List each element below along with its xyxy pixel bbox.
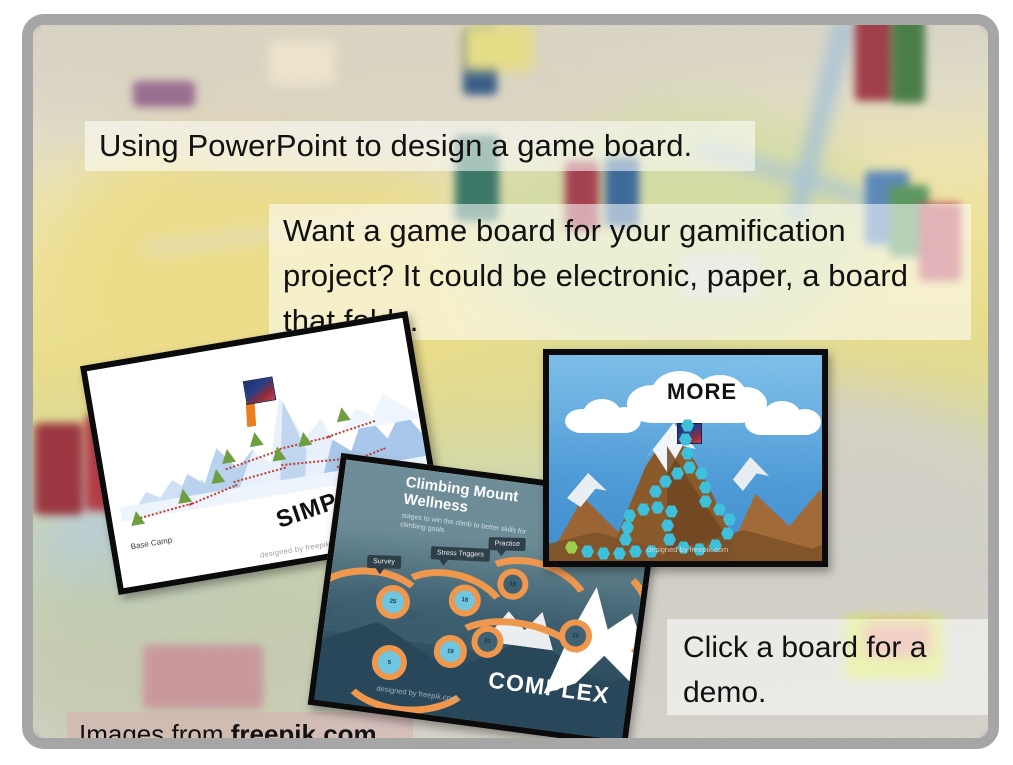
cloud-left-lobe-d: [571, 415, 635, 433]
board-label-more: MORE: [667, 379, 737, 405]
more-mountain-right-snow: [733, 457, 795, 491]
summit-flag-icon: [243, 376, 277, 405]
more-board-artwork: MORE designed by freepik.com: [549, 355, 822, 561]
summit-pole: [246, 402, 256, 428]
page-title: Using PowerPoint to design a game board.: [99, 125, 692, 167]
more-credit-text: designed by freepik.com: [647, 545, 728, 554]
cloud-right-lobe-d: [751, 417, 815, 435]
slide-frame: Using PowerPoint to design a game board.…: [22, 14, 999, 749]
image-credit: Images from freepik.com: [79, 717, 377, 738]
base-camp-label: Base Camp: [130, 535, 173, 551]
slide: Using PowerPoint to design a game board.…: [0, 0, 1013, 765]
image-credit-prefix: Images from: [79, 719, 231, 738]
complex-tag-survey: Survey: [367, 555, 401, 569]
more-cloud-right: [745, 399, 823, 433]
more-cloud-left: [565, 397, 643, 431]
more-mountain-left-snow: [567, 473, 629, 507]
demo-note-text: Click a board for a demo.: [683, 625, 926, 715]
complex-path-arc-6: [541, 562, 652, 673]
slide-canvas: Using PowerPoint to design a game board.…: [33, 25, 988, 738]
camp-marker-4: [220, 448, 236, 464]
camp-marker-6: [270, 445, 286, 461]
complex-tag-stress: Stress Triggers: [431, 546, 491, 562]
board-thumbnail-more[interactable]: MORE designed by freepik.com: [543, 349, 828, 567]
image-credit-source: freepik.com: [231, 719, 377, 738]
camp-marker-7: [296, 431, 312, 447]
camp-marker-8: [335, 406, 351, 422]
camp-marker-5: [247, 431, 263, 447]
camp-marker-base: [129, 510, 145, 526]
camp-marker-3: [209, 468, 225, 484]
camp-marker-2: [176, 488, 192, 504]
